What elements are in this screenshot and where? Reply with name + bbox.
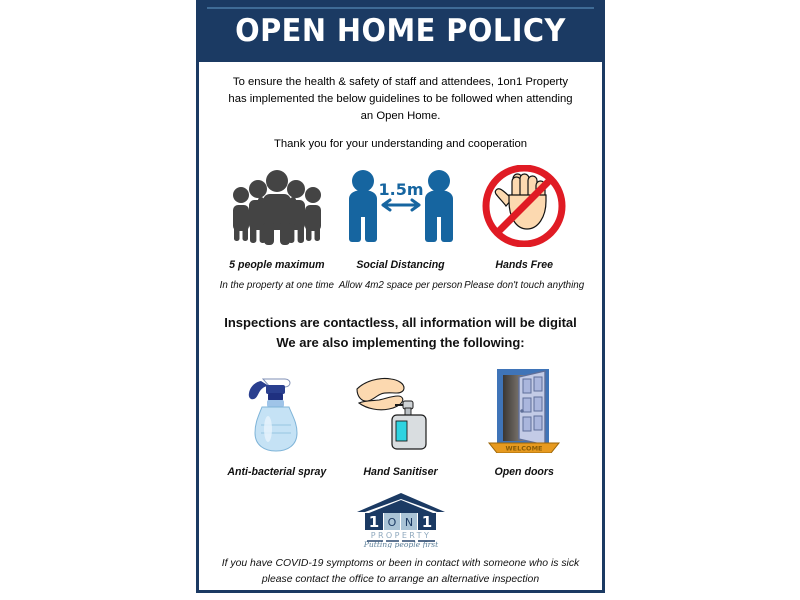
guideline-item-capacity: 5 people maximum In the property at one … (215, 163, 339, 291)
measure-item-sanitiser: Hand Sanitiser (339, 365, 463, 478)
social-distancing-icon: 1.5m (345, 163, 457, 247)
screenshot-canvas: OPEN HOME POLICY To ensure the health & … (0, 0, 800, 600)
guideline-item-hands-free: Hands Free Please don't touch anything (462, 163, 586, 291)
guideline-subcaption: Please don't touch anything (464, 280, 584, 291)
footer-note: If you have COVID-19 symptoms or been in… (199, 556, 602, 587)
no-touching-hand-icon (482, 163, 566, 247)
measure-caption: Anti-bacterial spray (227, 466, 326, 478)
guideline-caption: 5 people maximum (229, 259, 324, 271)
svg-text:O: O (387, 516, 396, 529)
welcome-mat-label: WELCOME (506, 445, 543, 453)
svg-text:Putting people first: Putting people first (362, 540, 438, 548)
measure-caption: Open doors (494, 466, 553, 478)
open-home-policy-poster: OPEN HOME POLICY To ensure the health & … (196, 0, 605, 593)
measures-row: Anti-bacterial spray (199, 365, 602, 478)
middle-heading-block: Inspections are contactless, all informa… (199, 313, 602, 353)
logo-container: 1 O N 1 PROPERTY Putting people first (199, 492, 602, 548)
poster-header-band: OPEN HOME POLICY (199, 3, 602, 65)
measure-caption: Hand Sanitiser (363, 466, 437, 478)
svg-text:N: N (404, 516, 412, 529)
intro-text-block: To ensure the health & safety of staff a… (199, 65, 602, 154)
guideline-caption: Hands Free (495, 259, 553, 271)
group-of-people-icon (225, 163, 329, 247)
intro-paragraph-1: To ensure the health & safety of staff a… (225, 74, 576, 125)
guidelines-row: 5 people maximum In the property at one … (199, 163, 602, 291)
guideline-subcaption: In the property at one time (220, 280, 334, 291)
guideline-caption: Social Distancing (356, 259, 444, 271)
guideline-item-distancing: 1.5m Social Distancing Allow 4m2 space p… (339, 163, 463, 291)
intro-paragraph-2: Thank you for your understanding and coo… (225, 136, 576, 153)
middle-heading-line-1: Inspections are contactless, all informa… (209, 313, 592, 333)
hand-sanitiser-icon (353, 365, 449, 453)
svg-text:PROPERTY: PROPERTY (370, 531, 431, 540)
measure-item-open-doors: WELCOME Open doors (462, 365, 586, 478)
spray-bottle-icon (239, 365, 315, 453)
guideline-subcaption: Allow 4m2 space per person (339, 280, 463, 291)
distance-label: 1.5m (378, 180, 423, 199)
svg-text:1: 1 (421, 513, 431, 531)
middle-heading-line-2: We are also implementing the following: (209, 333, 592, 353)
svg-text:1: 1 (368, 513, 378, 531)
measure-item-spray: Anti-bacterial spray (215, 365, 339, 478)
open-door-icon: WELCOME (485, 365, 563, 453)
page-title: OPEN HOME POLICY (213, 15, 588, 48)
1on1-property-logo: 1 O N 1 PROPERTY Putting people first (353, 492, 449, 548)
